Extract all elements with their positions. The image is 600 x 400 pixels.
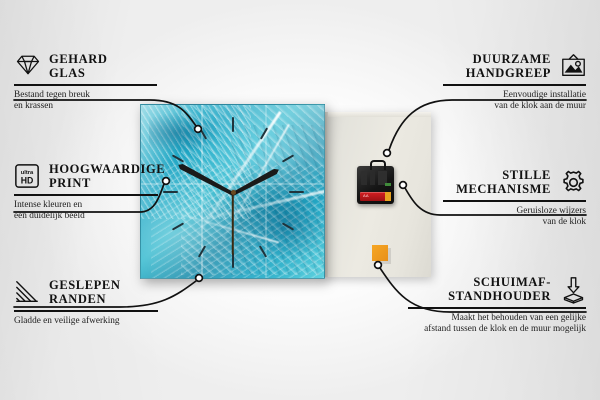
clock-center-pivot <box>231 190 236 195</box>
quartz-mechanism: AA <box>357 166 394 204</box>
back-panel-top-edge <box>321 112 431 117</box>
feature-title: SCHUIMAF- STANDHOUDER <box>448 275 551 303</box>
feature-header: GEHARD GLAS <box>14 52 159 80</box>
hanging-picture-icon <box>560 53 586 79</box>
feature-header: STILLE MECHANISME <box>441 168 586 196</box>
svg-text:HD: HD <box>21 175 34 185</box>
feature-divider <box>443 84 586 86</box>
feature-title: GESLEPEN RANDEN <box>49 278 121 306</box>
feature-divider <box>14 194 158 196</box>
feature-title: GEHARD GLAS <box>49 52 107 80</box>
infographic-canvas: AA <box>0 0 600 400</box>
feature-divider <box>408 307 586 309</box>
clock-face <box>140 104 325 279</box>
press-down-spacer-icon <box>560 276 586 302</box>
feature-header: ultra HD HOOGWAARDIGE PRINT <box>14 162 160 190</box>
feature-title: STILLE MECHANISME <box>456 168 551 196</box>
face-shadow-1 <box>149 113 219 153</box>
clock-tick-9 <box>163 191 178 193</box>
clock-tick-12 <box>232 117 234 132</box>
feature-divider <box>14 310 158 312</box>
clock-tick-8 <box>172 222 184 230</box>
feature-description: Gladde en veilige afwerking <box>14 316 160 328</box>
product-clock <box>140 104 325 279</box>
ultra-hd-icon: ultra HD <box>14 163 40 189</box>
mechanism-label-strip <box>385 183 391 186</box>
feature-duurzame-handgreep[interactable]: DUURZAME HANDGREEP Eenvoudige installati… <box>441 52 586 113</box>
feature-divider <box>443 200 586 202</box>
feature-divider <box>14 84 157 86</box>
diamond-icon <box>14 53 40 79</box>
feature-description: Bestand tegen breuk en krassen <box>14 90 159 113</box>
hatched-edge-icon <box>14 279 40 305</box>
feature-gehard-glas[interactable]: GEHARD GLAS Bestand tegen breuk en krass… <box>14 52 159 113</box>
clock-tick-6 <box>232 253 234 268</box>
clock-minute-hand <box>177 162 235 196</box>
feature-schuimafstandhouder[interactable]: SCHUIMAF- STANDHOUDER Maakt het behouden… <box>406 275 586 336</box>
feature-header: GESLEPEN RANDEN <box>14 278 160 306</box>
feature-title: HOOGWAARDIGE PRINT <box>49 162 165 190</box>
battery-label: AA <box>363 193 369 198</box>
clock-tick-10 <box>172 154 184 162</box>
feature-header: SCHUIMAF- STANDHOUDER <box>406 275 586 303</box>
feature-title: DUURZAME HANDGREEP <box>466 52 551 80</box>
feature-description: Maakt het behouden van een gelijke afsta… <box>406 313 586 336</box>
feature-description: Eenvoudige installatie van de klok aan d… <box>441 90 586 113</box>
gear-icon <box>560 169 586 195</box>
feature-description: Geruisloze wijzers van de klok <box>441 206 586 229</box>
glass-reflection-h1 <box>141 183 325 185</box>
feature-hoogwaardige-print[interactable]: ultra HD HOOGWAARDIGE PRINT Intense kleu… <box>14 162 160 223</box>
feature-header: DUURZAME HANDGREEP <box>441 52 586 80</box>
feature-description: Intense kleuren en een duidelijk beeld <box>14 200 160 223</box>
clock-second-hand <box>232 193 234 255</box>
battery-positive-terminal <box>385 192 391 201</box>
foam-spacer <box>372 245 388 261</box>
clock-tick-2 <box>282 154 294 162</box>
feature-geslepen-randen[interactable]: GESLEPEN RANDEN Gladde en veilige afwerk… <box>14 278 160 327</box>
battery: AA <box>360 192 391 201</box>
feature-stille-mechanisme[interactable]: STILLE MECHANISME Geruisloze wijzers van… <box>441 168 586 229</box>
clock-tick-3 <box>289 191 304 193</box>
mechanism-hanger-tab <box>370 160 386 170</box>
